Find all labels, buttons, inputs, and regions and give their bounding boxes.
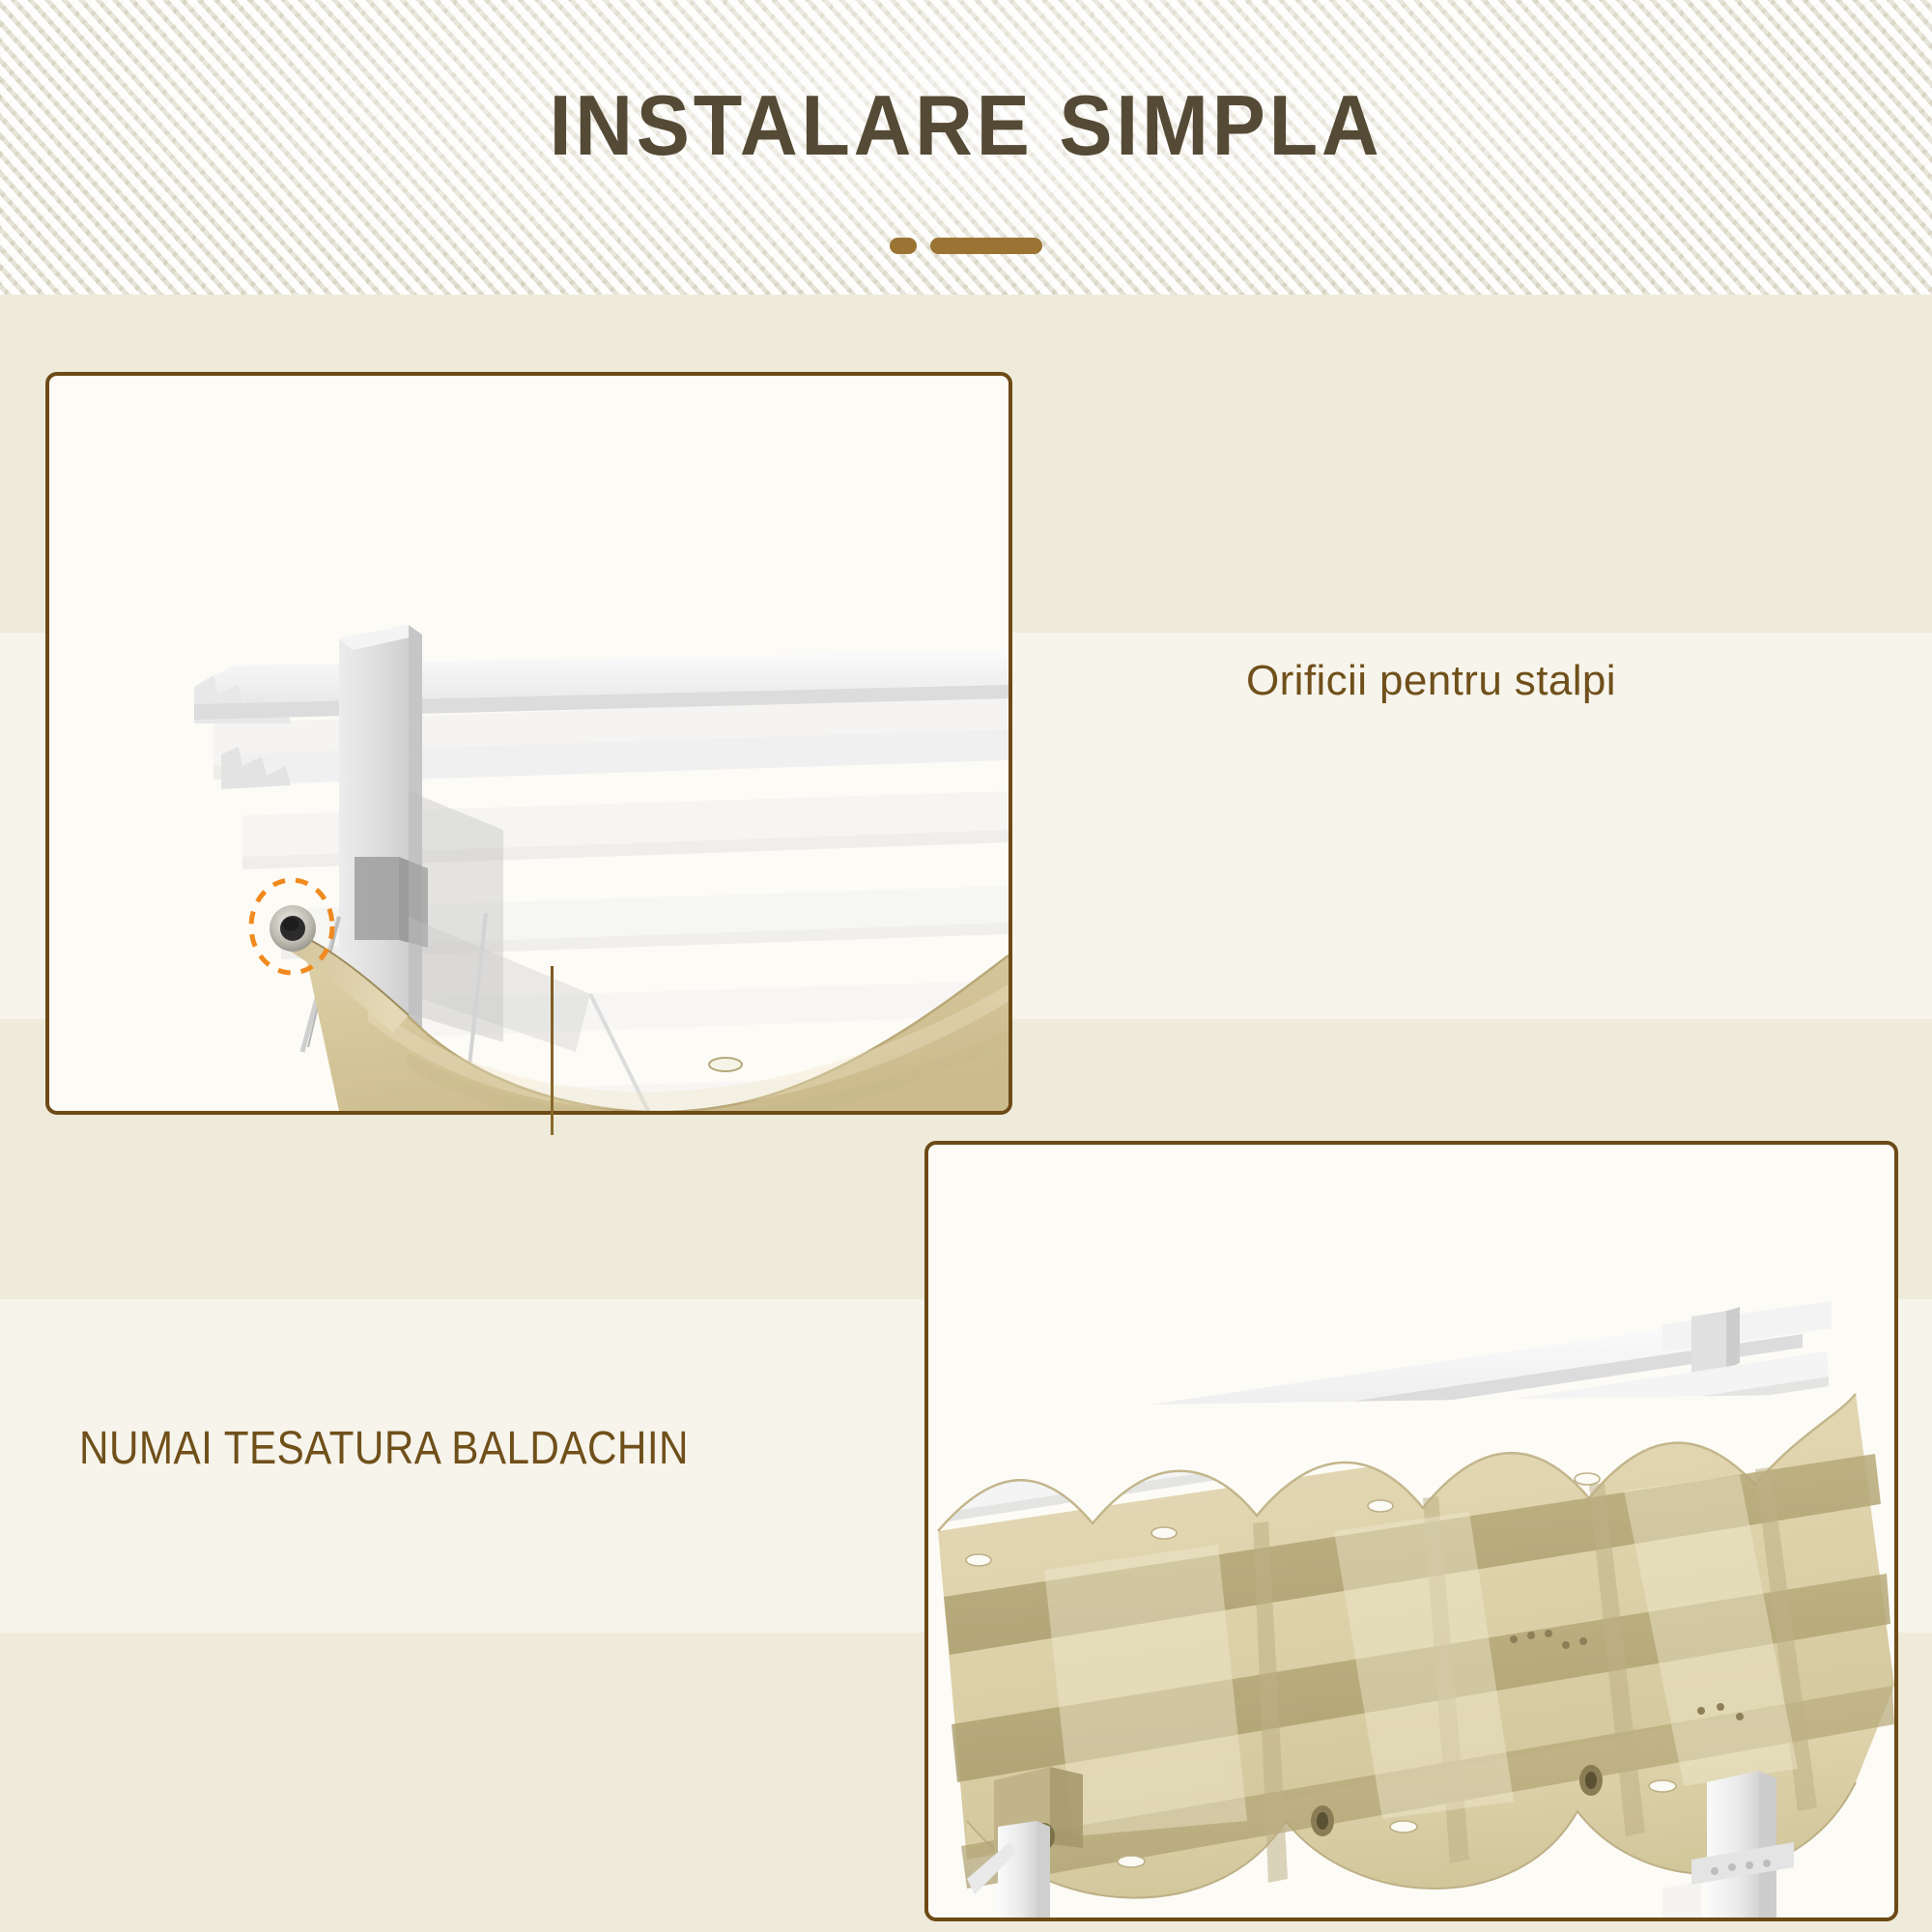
header-banner: INSTALARE SIMPLA bbox=[0, 0, 1932, 295]
canopy-svg bbox=[928, 1145, 1894, 1918]
label-fabric-only: NUMAI TESATURA BALDACHIN bbox=[79, 1422, 689, 1475]
illustration-post-hole bbox=[49, 376, 1009, 1111]
post-hole-svg bbox=[49, 376, 1009, 1111]
divider-dot-icon bbox=[890, 238, 917, 254]
leader-line bbox=[551, 966, 554, 1135]
card-canopy-overview[interactable] bbox=[924, 1141, 1898, 1921]
card-post-hole-detail[interactable] bbox=[45, 372, 1012, 1115]
page-title: INSTALARE SIMPLA bbox=[58, 83, 1874, 168]
divider-bar-icon bbox=[930, 238, 1042, 254]
grommet bbox=[270, 905, 316, 952]
illustration-canopy bbox=[928, 1145, 1894, 1918]
title-divider bbox=[0, 238, 1932, 254]
label-post-holes: Orificii pentru stalpi bbox=[1246, 657, 1616, 705]
